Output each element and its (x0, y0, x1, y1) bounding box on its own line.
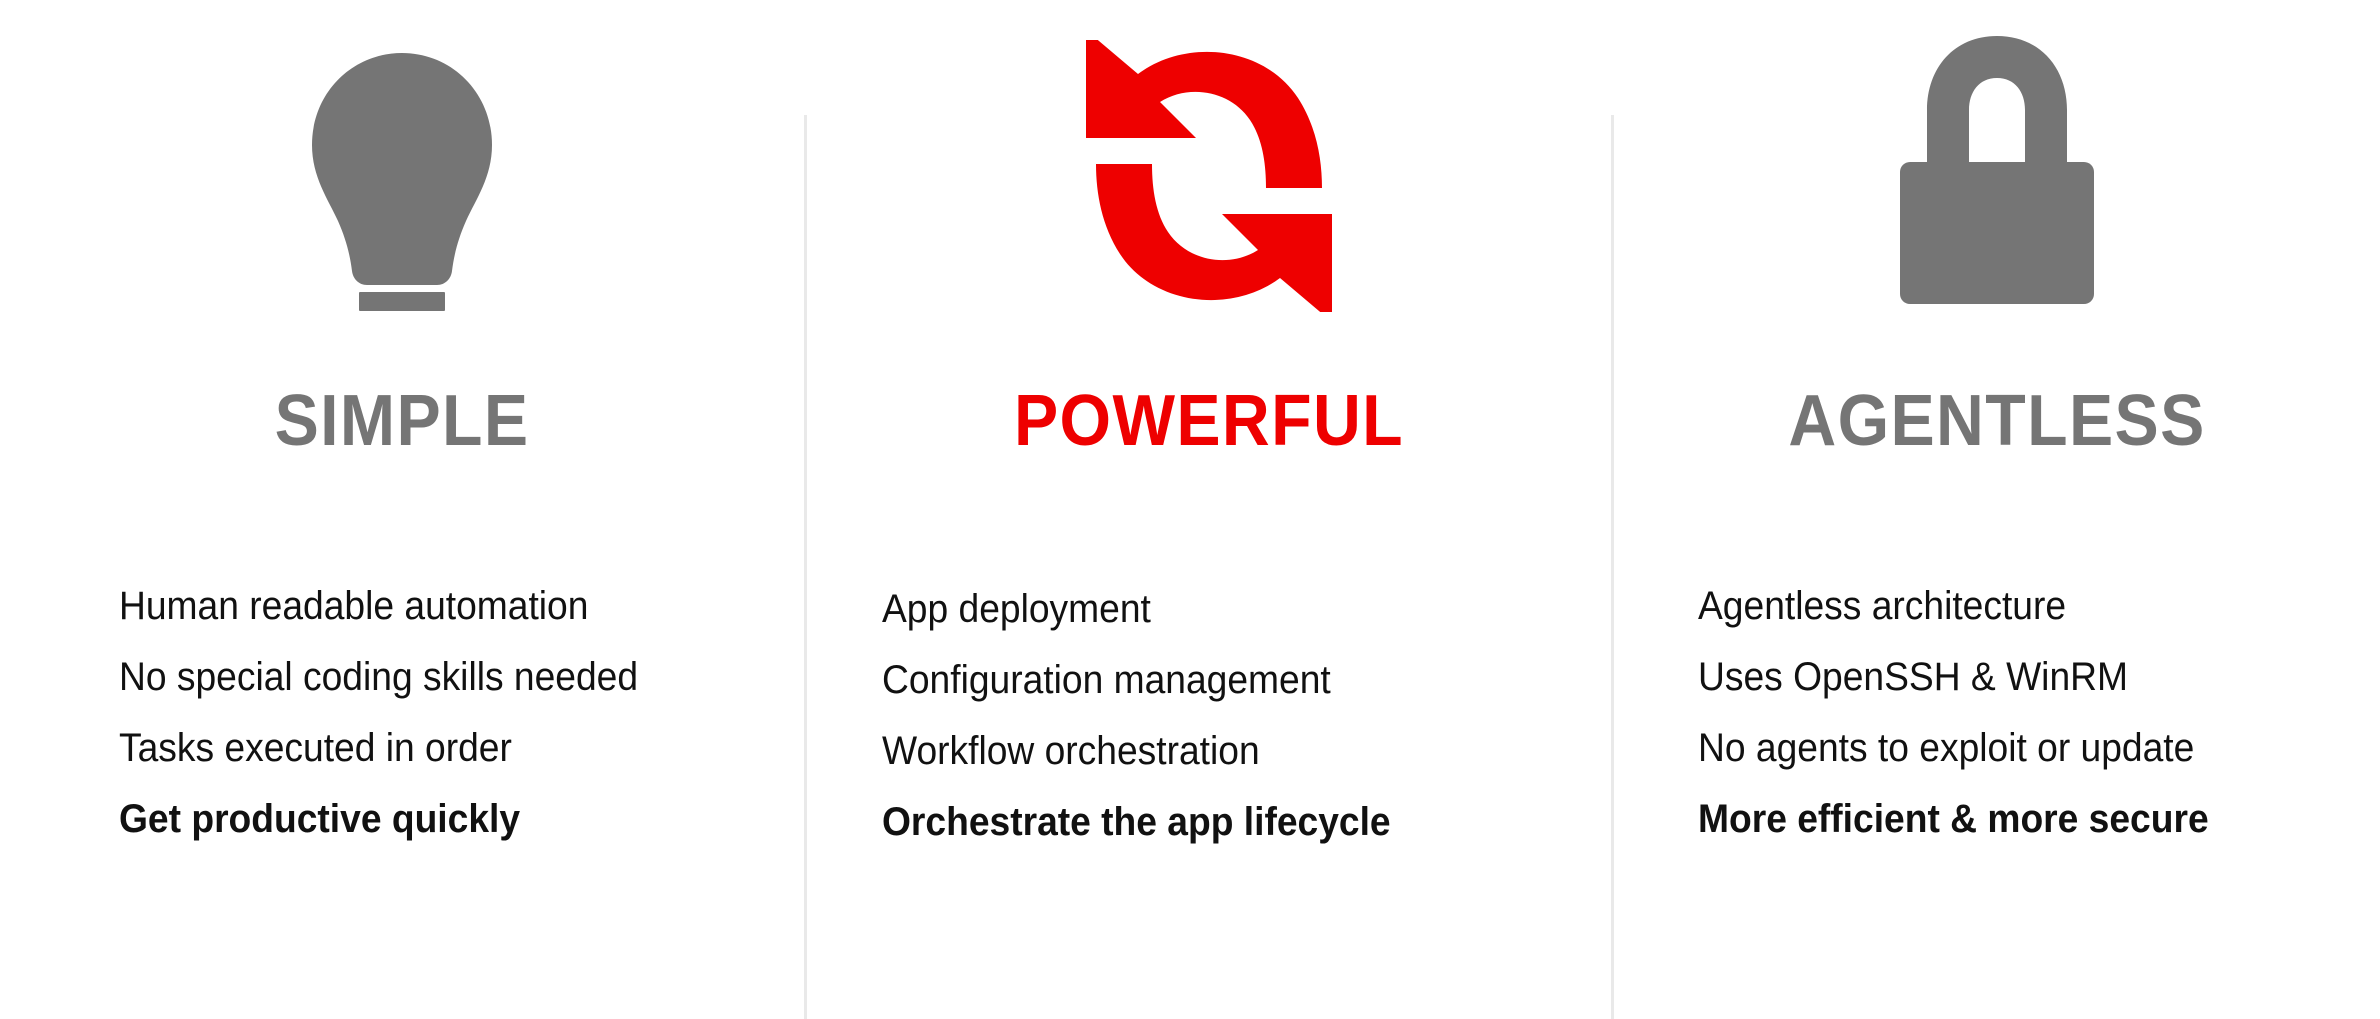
list-item: No special coding skills needed (119, 657, 638, 697)
list-item-emphasis: More efficient & more secure (1698, 799, 2209, 839)
list-item: Agentless architecture (1698, 586, 2209, 626)
list-item: Tasks executed in order (119, 728, 638, 768)
refresh-cycle-arrows-icon (807, 52, 1611, 312)
page-title-agentless: AGENTLESS (1645, 385, 2350, 457)
list-item-emphasis: Get productive quickly (119, 799, 638, 839)
feature-column-agentless: AGENTLESS Agentless architecture Uses Op… (1614, 0, 2380, 1019)
list-item: Workflow orchestration (882, 731, 1391, 771)
feature-column-powerful: POWERFUL App deployment Configuration ma… (807, 0, 1611, 1019)
feature-comparison-board: SIMPLE Human readable automation No spec… (0, 0, 2380, 1019)
padlock-icon (1614, 48, 2380, 308)
feature-list-powerful: App deployment Configuration management … (882, 589, 1429, 842)
feature-list-agentless: Agentless architecture Uses OpenSSH & Wi… (1698, 586, 2247, 839)
list-item: Human readable automation (119, 586, 638, 626)
list-item: App deployment (882, 589, 1391, 629)
feature-list-simple: Human readable automation No special cod… (119, 586, 677, 839)
page-title-powerful: POWERFUL (839, 385, 1579, 457)
list-item: Configuration management (882, 660, 1391, 700)
list-item: Uses OpenSSH & WinRM (1698, 657, 2209, 697)
feature-column-simple: SIMPLE Human readable automation No spec… (0, 0, 804, 1019)
list-item-emphasis: Orchestrate the app lifecycle (882, 802, 1391, 842)
list-item: No agents to exploit or update (1698, 728, 2209, 768)
lightbulb-icon (0, 55, 804, 315)
page-title-simple: SIMPLE (32, 385, 772, 457)
